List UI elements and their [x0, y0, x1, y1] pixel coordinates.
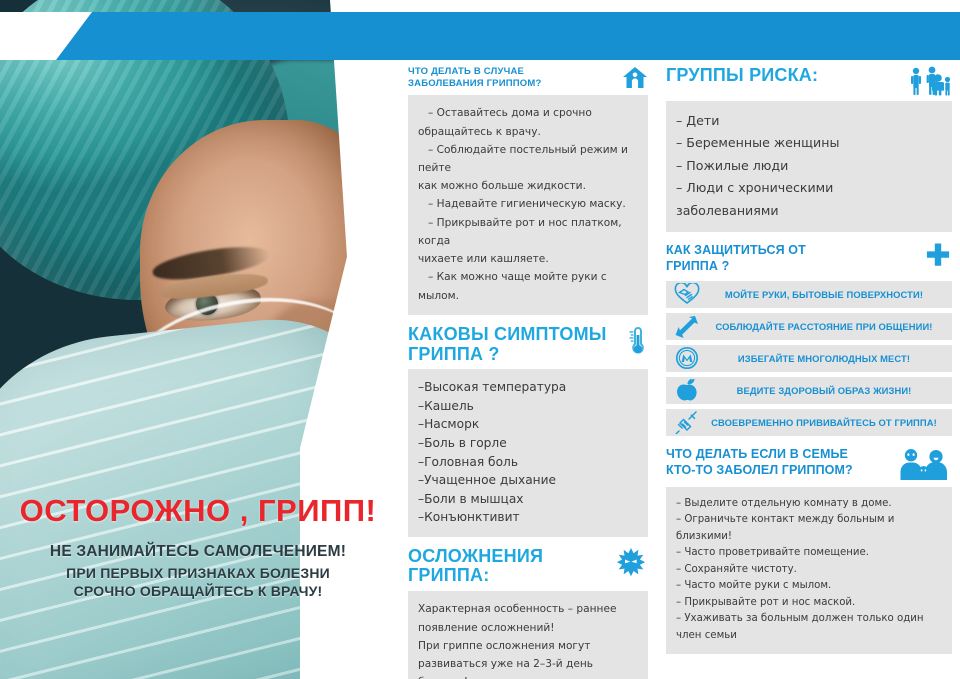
- title-line-1: ЧТО ДЕЛАТЬ ЕСЛИ В СЕМЬЕ: [666, 446, 853, 462]
- section-title: ЧТО ДЕЛАТЬ ЕСЛИ В СЕМЬЕ КТО-ТО ЗАБОЛЕЛ Г…: [666, 446, 853, 479]
- list-item: обращайтесь к врачу.: [418, 123, 638, 141]
- list-item: болезни!: [418, 673, 638, 679]
- section-title: ГРУППЫ РИСКА:: [666, 66, 818, 86]
- list-item: –Конъюнктивит: [418, 508, 638, 527]
- list-item: близкими!: [676, 529, 942, 546]
- family-box: – Выделите отдельную комнату в доме. – О…: [666, 487, 952, 655]
- page-title: ОСТОРОЖНО , ГРИПП!: [0, 495, 396, 528]
- list-item: – Ограничьте контакт между больным и: [676, 512, 942, 529]
- syringe-icon: [670, 410, 704, 434]
- risk-groups-box: – Дети – Беременные женщины – Пожилые лю…: [666, 101, 952, 232]
- subtitle-secondary-line1: ПРИ ПЕРВЫХ ПРИЗНАКАХ БОЛЕЗНИ: [0, 564, 396, 582]
- top-blue-banner: [0, 12, 960, 60]
- section-header: ЧТО ДЕЛАТЬ В СЛУЧАЕ ЗАБОЛЕВАНИЯ ГРИППОМ?: [408, 66, 648, 90]
- title-line-1: КАКОВЫ СИМПТОМЫ: [408, 325, 607, 345]
- what-to-do-box: – Оставайтесь дома и срочно обращайтесь …: [408, 95, 648, 314]
- protection-bar[interactable]: ВЕДИТЕ ЗДОРОВЫЙ ОБРАЗ ЖИЗНИ!: [666, 377, 952, 404]
- list-item: чихаете или кашляете.: [418, 250, 638, 268]
- list-item: –Головная боль: [418, 453, 638, 472]
- complications-box: Характерная особенность – раннее появлен…: [408, 591, 648, 679]
- headline-block: ОСТОРОЖНО , ГРИПП! НЕ ЗАНИМАЙТЕСЬ САМОЛЕ…: [0, 495, 396, 600]
- list-item: – Дети: [676, 110, 942, 132]
- title-line-1: ЧТО ДЕЛАТЬ В СЛУЧАЕ: [408, 66, 542, 78]
- symptoms-box: –Высокая температура –Кашель –Насморк –Б…: [408, 369, 648, 536]
- title-line-2: ГРИППА ?: [666, 258, 806, 274]
- section-protection: КАК ЗАЩИТИТЬСЯ ОТ ГРИППА ?: [666, 242, 952, 436]
- family-group-icon: [908, 66, 952, 96]
- list-item: – Надевайте гигиеническую маску.: [418, 195, 638, 213]
- distance-arrow-icon: [670, 314, 704, 338]
- section-header: ОСЛОЖНЕНИЯ ГРИППА:: [408, 547, 648, 587]
- title-line-1: ОСЛОЖНЕНИЯ: [408, 547, 543, 567]
- list-item: появление осложнений!: [418, 619, 638, 637]
- protection-label: МОЙТЕ РУКИ, БЫТОВЫЕ ПОВЕРХНОСТИ!: [704, 289, 944, 300]
- apple-icon: [670, 378, 704, 402]
- handshake-heart-icon: [670, 282, 704, 306]
- protection-bar[interactable]: СОБЛЮДАЙТЕ РАССТОЯНИЕ ПРИ ОБЩЕНИИ!: [666, 313, 952, 340]
- section-title: КАК ЗАЩИТИТЬСЯ ОТ ГРИППА ?: [666, 242, 806, 275]
- protection-bar[interactable]: МОЙТЕ РУКИ, БЫТОВЫЕ ПОВЕРХНОСТИ!: [666, 281, 952, 308]
- thermometer-icon: [628, 325, 648, 357]
- list-item: – Выделите отдельную комнату в доме.: [676, 496, 942, 513]
- title-line-1: КАК ЗАЩИТИТЬСЯ ОТ: [666, 242, 806, 258]
- title-line-2: КТО-ТО ЗАБОЛЕЛ ГРИППОМ?: [666, 462, 853, 478]
- list-item: – Прикрывайте рот и нос платком, когда: [418, 214, 638, 250]
- list-item: – Беременные женщины: [676, 132, 942, 154]
- section-complications: ОСЛОЖНЕНИЯ ГРИППА: Характерная особеннос…: [408, 547, 648, 679]
- medical-cross-icon: [924, 242, 952, 270]
- left-content-column: ЧТО ДЕЛАТЬ В СЛУЧАЕ ЗАБОЛЕВАНИЯ ГРИППОМ?…: [408, 66, 648, 679]
- section-title: КАКОВЫ СИМПТОМЫ ГРИППА ?: [408, 325, 607, 365]
- list-item: как можно больше жидкости.: [418, 177, 638, 195]
- protection-bar[interactable]: ИЗБЕГАЙТЕ МНОГОЛЮДНЫХ МЕСТ!: [666, 345, 952, 372]
- list-item: – Часто проветривайте помещение.: [676, 545, 942, 562]
- list-item: – Часто мойте руки с мылом.: [676, 578, 942, 595]
- list-item: –Насморк: [418, 415, 638, 434]
- list-item: заболеваниями: [676, 200, 942, 222]
- metro-icon: [670, 346, 704, 370]
- subtitle-secondary-line2: СРОЧНО ОБРАЩАЙТЕСЬ К ВРАЧУ!: [0, 582, 396, 600]
- list-item: – Пожилые люди: [676, 155, 942, 177]
- influenza-awareness-poster: ОСТОРОЖНО , ГРИПП! НЕ ЗАНИМАЙТЕСЬ САМОЛЕ…: [0, 0, 960, 679]
- protection-label: СВОЕВРЕМЕННО ПРИВИВАЙТЕСЬ ОТ ГРИППА!: [704, 417, 944, 428]
- section-family: ЧТО ДЕЛАТЬ ЕСЛИ В СЕМЬЕ КТО-ТО ЗАБОЛЕЛ Г…: [666, 446, 952, 655]
- list-item: –Высокая температура: [418, 378, 638, 397]
- list-item: член семьи: [676, 628, 942, 645]
- section-what-to-do: ЧТО ДЕЛАТЬ В СЛУЧАЕ ЗАБОЛЕВАНИЯ ГРИППОМ?…: [408, 66, 648, 315]
- list-item: – Сохраняйте чистоту.: [676, 562, 942, 579]
- list-item: – Как можно чаще мойте руки с мылом.: [418, 268, 638, 304]
- list-item: – Ухаживать за больным должен только оди…: [676, 611, 942, 628]
- section-header: ГРУППЫ РИСКА:: [666, 66, 952, 96]
- list-item: –Боль в горле: [418, 434, 638, 453]
- list-item: –Кашель: [418, 397, 638, 416]
- protection-bar[interactable]: СВОЕВРЕМЕННО ПРИВИВАЙТЕСЬ ОТ ГРИППА!: [666, 409, 952, 436]
- title-line-2: ЗАБОЛЕВАНИЯ ГРИППОМ?: [408, 78, 542, 90]
- protection-label: ВЕДИТЕ ЗДОРОВЫЙ ОБРАЗ ЖИЗНИ!: [704, 385, 944, 396]
- list-item: – Люди с хроническими: [676, 177, 942, 199]
- family-care-icon: [896, 446, 952, 482]
- section-header: ЧТО ДЕЛАТЬ ЕСЛИ В СЕМЬЕ КТО-ТО ЗАБОЛЕЛ Г…: [666, 446, 952, 482]
- list-item: Характерная особенность – раннее: [418, 600, 638, 618]
- list-item: –Боли в мышцах: [418, 490, 638, 509]
- right-content-column: ГРУППЫ РИСКА:: [666, 66, 952, 664]
- list-item: – Оставайтесь дома и срочно: [418, 104, 638, 122]
- protection-label: ИЗБЕГАЙТЕ МНОГОЛЮДНЫХ МЕСТ!: [704, 353, 944, 364]
- house-icon: [622, 66, 648, 90]
- list-item: При гриппе осложнения могут: [418, 637, 638, 655]
- list-item: – Прикрывайте рот и нос маской.: [676, 595, 942, 612]
- title-line-2: ГРИППА ?: [408, 345, 607, 365]
- protection-bar-list: МОЙТЕ РУКИ, БЫТОВЫЕ ПОВЕРХНОСТИ! СОБЛЮДА…: [666, 281, 952, 436]
- subtitle-primary: НЕ ЗАНИМАЙТЕСЬ САМОЛЕЧЕНИЕМ!: [0, 542, 396, 561]
- title-line-2: ГРИППА:: [408, 566, 543, 586]
- section-title: ЧТО ДЕЛАТЬ В СЛУЧАЕ ЗАБОЛЕВАНИЯ ГРИППОМ?: [408, 66, 542, 90]
- section-risk-groups: ГРУППЫ РИСКА:: [666, 66, 952, 232]
- list-item: –Учащенное дыхание: [418, 471, 638, 490]
- section-symptoms: КАКОВЫ СИМПТОМЫ ГРИППА ?: [408, 325, 648, 537]
- list-item: развиваться уже на 2–3-й день: [418, 655, 638, 673]
- section-title: ОСЛОЖНЕНИЯ ГРИППА:: [408, 547, 543, 587]
- virus-icon: [614, 547, 648, 579]
- protection-label: СОБЛЮДАЙТЕ РАССТОЯНИЕ ПРИ ОБЩЕНИИ!: [704, 321, 944, 332]
- section-header: КАК ЗАЩИТИТЬСЯ ОТ ГРИППА ?: [666, 242, 952, 275]
- section-header: КАКОВЫ СИМПТОМЫ ГРИППА ?: [408, 325, 648, 365]
- list-item: – Соблюдайте постельный режим и пейте: [418, 141, 638, 177]
